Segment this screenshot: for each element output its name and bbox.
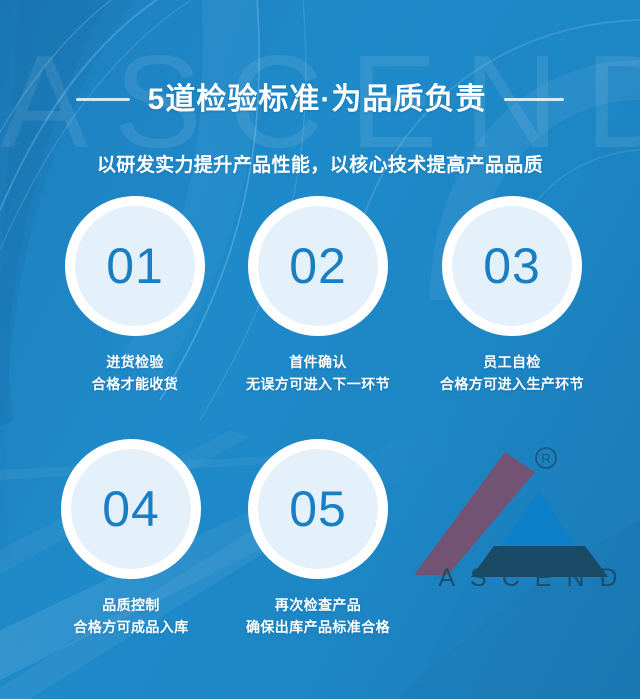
step-caption-line2: 合格方可进入生产环节 bbox=[417, 374, 607, 396]
step-caption-line1: 进货检验 bbox=[40, 352, 230, 374]
step-caption: 首件确认 无误方可进入下一环节 bbox=[223, 352, 413, 395]
step-caption-line1: 再次检查产品 bbox=[223, 595, 413, 617]
step-caption-line2: 确保出库产品标准合格 bbox=[223, 617, 413, 639]
step-caption-line2: 无误方可进入下一环节 bbox=[223, 374, 413, 396]
step-caption-line2: 合格方可成品入库 bbox=[36, 617, 226, 639]
step-badge-01: 01 bbox=[65, 196, 205, 336]
promo-poster: ASCEND 5道检验标准·为品质负责 以研发实力提升产品性能，以核心技术提高产… bbox=[0, 0, 640, 699]
step-caption-line1: 品质控制 bbox=[36, 595, 226, 617]
step-item-05: 05 再次检查产品 确保出库产品标准合格 bbox=[223, 439, 413, 638]
step-caption: 品质控制 合格方可成品入库 bbox=[36, 595, 226, 638]
step-caption: 员工自检 合格方可进入生产环节 bbox=[417, 352, 607, 395]
step-badge-04: 04 bbox=[61, 439, 201, 579]
logo-wordmark: ASCEND bbox=[416, 564, 640, 593]
title-rule-right-icon bbox=[504, 98, 564, 101]
step-caption: 进货检验 合格才能收货 bbox=[40, 352, 230, 395]
step-item-01: 01 进货检验 合格才能收货 bbox=[40, 196, 230, 395]
step-item-02: 02 首件确认 无误方可进入下一环节 bbox=[223, 196, 413, 395]
brand-logo: R ASCEND bbox=[408, 440, 640, 610]
step-number: 04 bbox=[102, 484, 160, 534]
step-caption-line1: 员工自检 bbox=[417, 352, 607, 374]
registered-mark-icon: R bbox=[536, 448, 556, 468]
step-badge-02: 02 bbox=[248, 196, 388, 336]
svg-text:R: R bbox=[541, 451, 550, 466]
step-badge-05: 05 bbox=[248, 439, 388, 579]
step-item-03: 03 员工自检 合格方可进入生产环节 bbox=[417, 196, 607, 395]
step-badge-03: 03 bbox=[442, 196, 582, 336]
step-caption-line1: 首件确认 bbox=[223, 352, 413, 374]
step-number: 02 bbox=[289, 241, 347, 291]
step-number: 01 bbox=[106, 241, 164, 291]
step-caption-line2: 合格才能收货 bbox=[40, 374, 230, 396]
step-item-04: 04 品质控制 合格方可成品入库 bbox=[36, 439, 226, 638]
page-title: 5道检验标准·为品质负责 bbox=[148, 82, 487, 117]
title-row: 5道检验标准·为品质负责 bbox=[0, 62, 640, 138]
title-rule-left-icon bbox=[76, 98, 130, 101]
step-number: 03 bbox=[483, 241, 541, 291]
step-caption: 再次检查产品 确保出库产品标准合格 bbox=[223, 595, 413, 638]
step-number: 05 bbox=[289, 484, 347, 534]
page-subtitle: 以研发实力提升产品性能，以核心技术提高产品品质 bbox=[0, 150, 640, 177]
poster-header: 5道检验标准·为品质负责 以研发实力提升产品性能，以核心技术提高产品品质 bbox=[0, 62, 640, 177]
